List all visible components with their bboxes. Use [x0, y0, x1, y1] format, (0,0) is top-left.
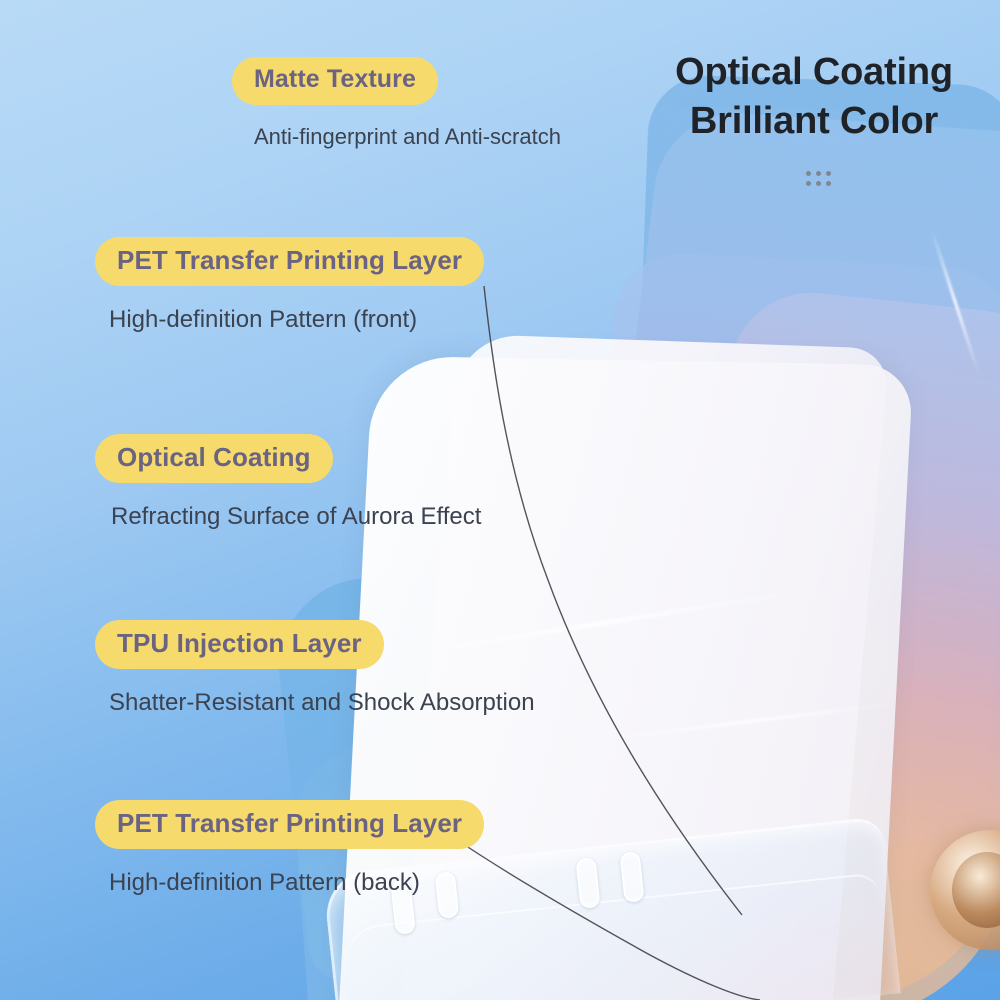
camera-bump [930, 830, 1000, 950]
headline-line-1: Optical Coating [628, 48, 1000, 97]
case-sheet-blue-middle [584, 250, 1000, 890]
gloss-highlight-c [930, 230, 979, 374]
dot-grid-dot [816, 181, 821, 186]
callout-title: PET Transfer Printing Layer [95, 800, 484, 849]
gloss-highlight-b [601, 702, 899, 742]
case-sheet-peach [663, 285, 1000, 1000]
callout-title: Optical Coating [95, 434, 333, 483]
callout-title: TPU Injection Layer [95, 620, 384, 669]
button-cutout-3 [575, 857, 600, 909]
dot-grid-icon [806, 171, 831, 186]
case-sheet-blue-top [630, 74, 1000, 647]
callout-optical-coating: Optical Coating Refracting Surface of Au… [95, 434, 481, 531]
button-cutout-4 [619, 851, 644, 903]
callout-matte-texture: Matte Texture Anti-fingerprint and Anti-… [232, 57, 561, 150]
callout-title: Matte Texture [232, 57, 438, 105]
dot-grid-dot [826, 171, 831, 176]
callout-subtitle: Shatter-Resistant and Shock Absorption [109, 689, 535, 718]
case-sheet-blue-lower-a [270, 544, 730, 986]
callout-subtitle: Anti-fingerprint and Anti-scratch [254, 124, 561, 150]
dot-grid-dot [816, 171, 821, 176]
callout-pet-transfer-printing-layer-back: PET Transfer Printing Layer High-definit… [95, 800, 484, 897]
headline-line-2: Brilliant Color [628, 97, 1000, 146]
callout-subtitle: High-definition Pattern (back) [109, 869, 484, 898]
dot-grid-dot [806, 171, 811, 176]
callout-title: PET Transfer Printing Layer [95, 237, 484, 286]
leader-line-upper [484, 286, 742, 915]
dot-grid-dot [826, 181, 831, 186]
infographic-poster: Optical Coating Brilliant Color Matte Te… [0, 0, 1000, 1000]
headline: Optical Coating Brilliant Color [628, 48, 1000, 145]
camera-lens [952, 852, 1000, 928]
callout-subtitle: High-definition Pattern (front) [109, 306, 484, 335]
callout-pet-transfer-printing-layer-front: PET Transfer Printing Layer High-definit… [95, 237, 484, 334]
callout-tpu-injection-layer: TPU Injection Layer Shatter-Resistant an… [95, 620, 535, 717]
dot-grid-dot [806, 181, 811, 186]
callout-subtitle: Refracting Surface of Aurora Effect [111, 503, 481, 532]
case-sheet-aurora [557, 108, 1000, 1000]
